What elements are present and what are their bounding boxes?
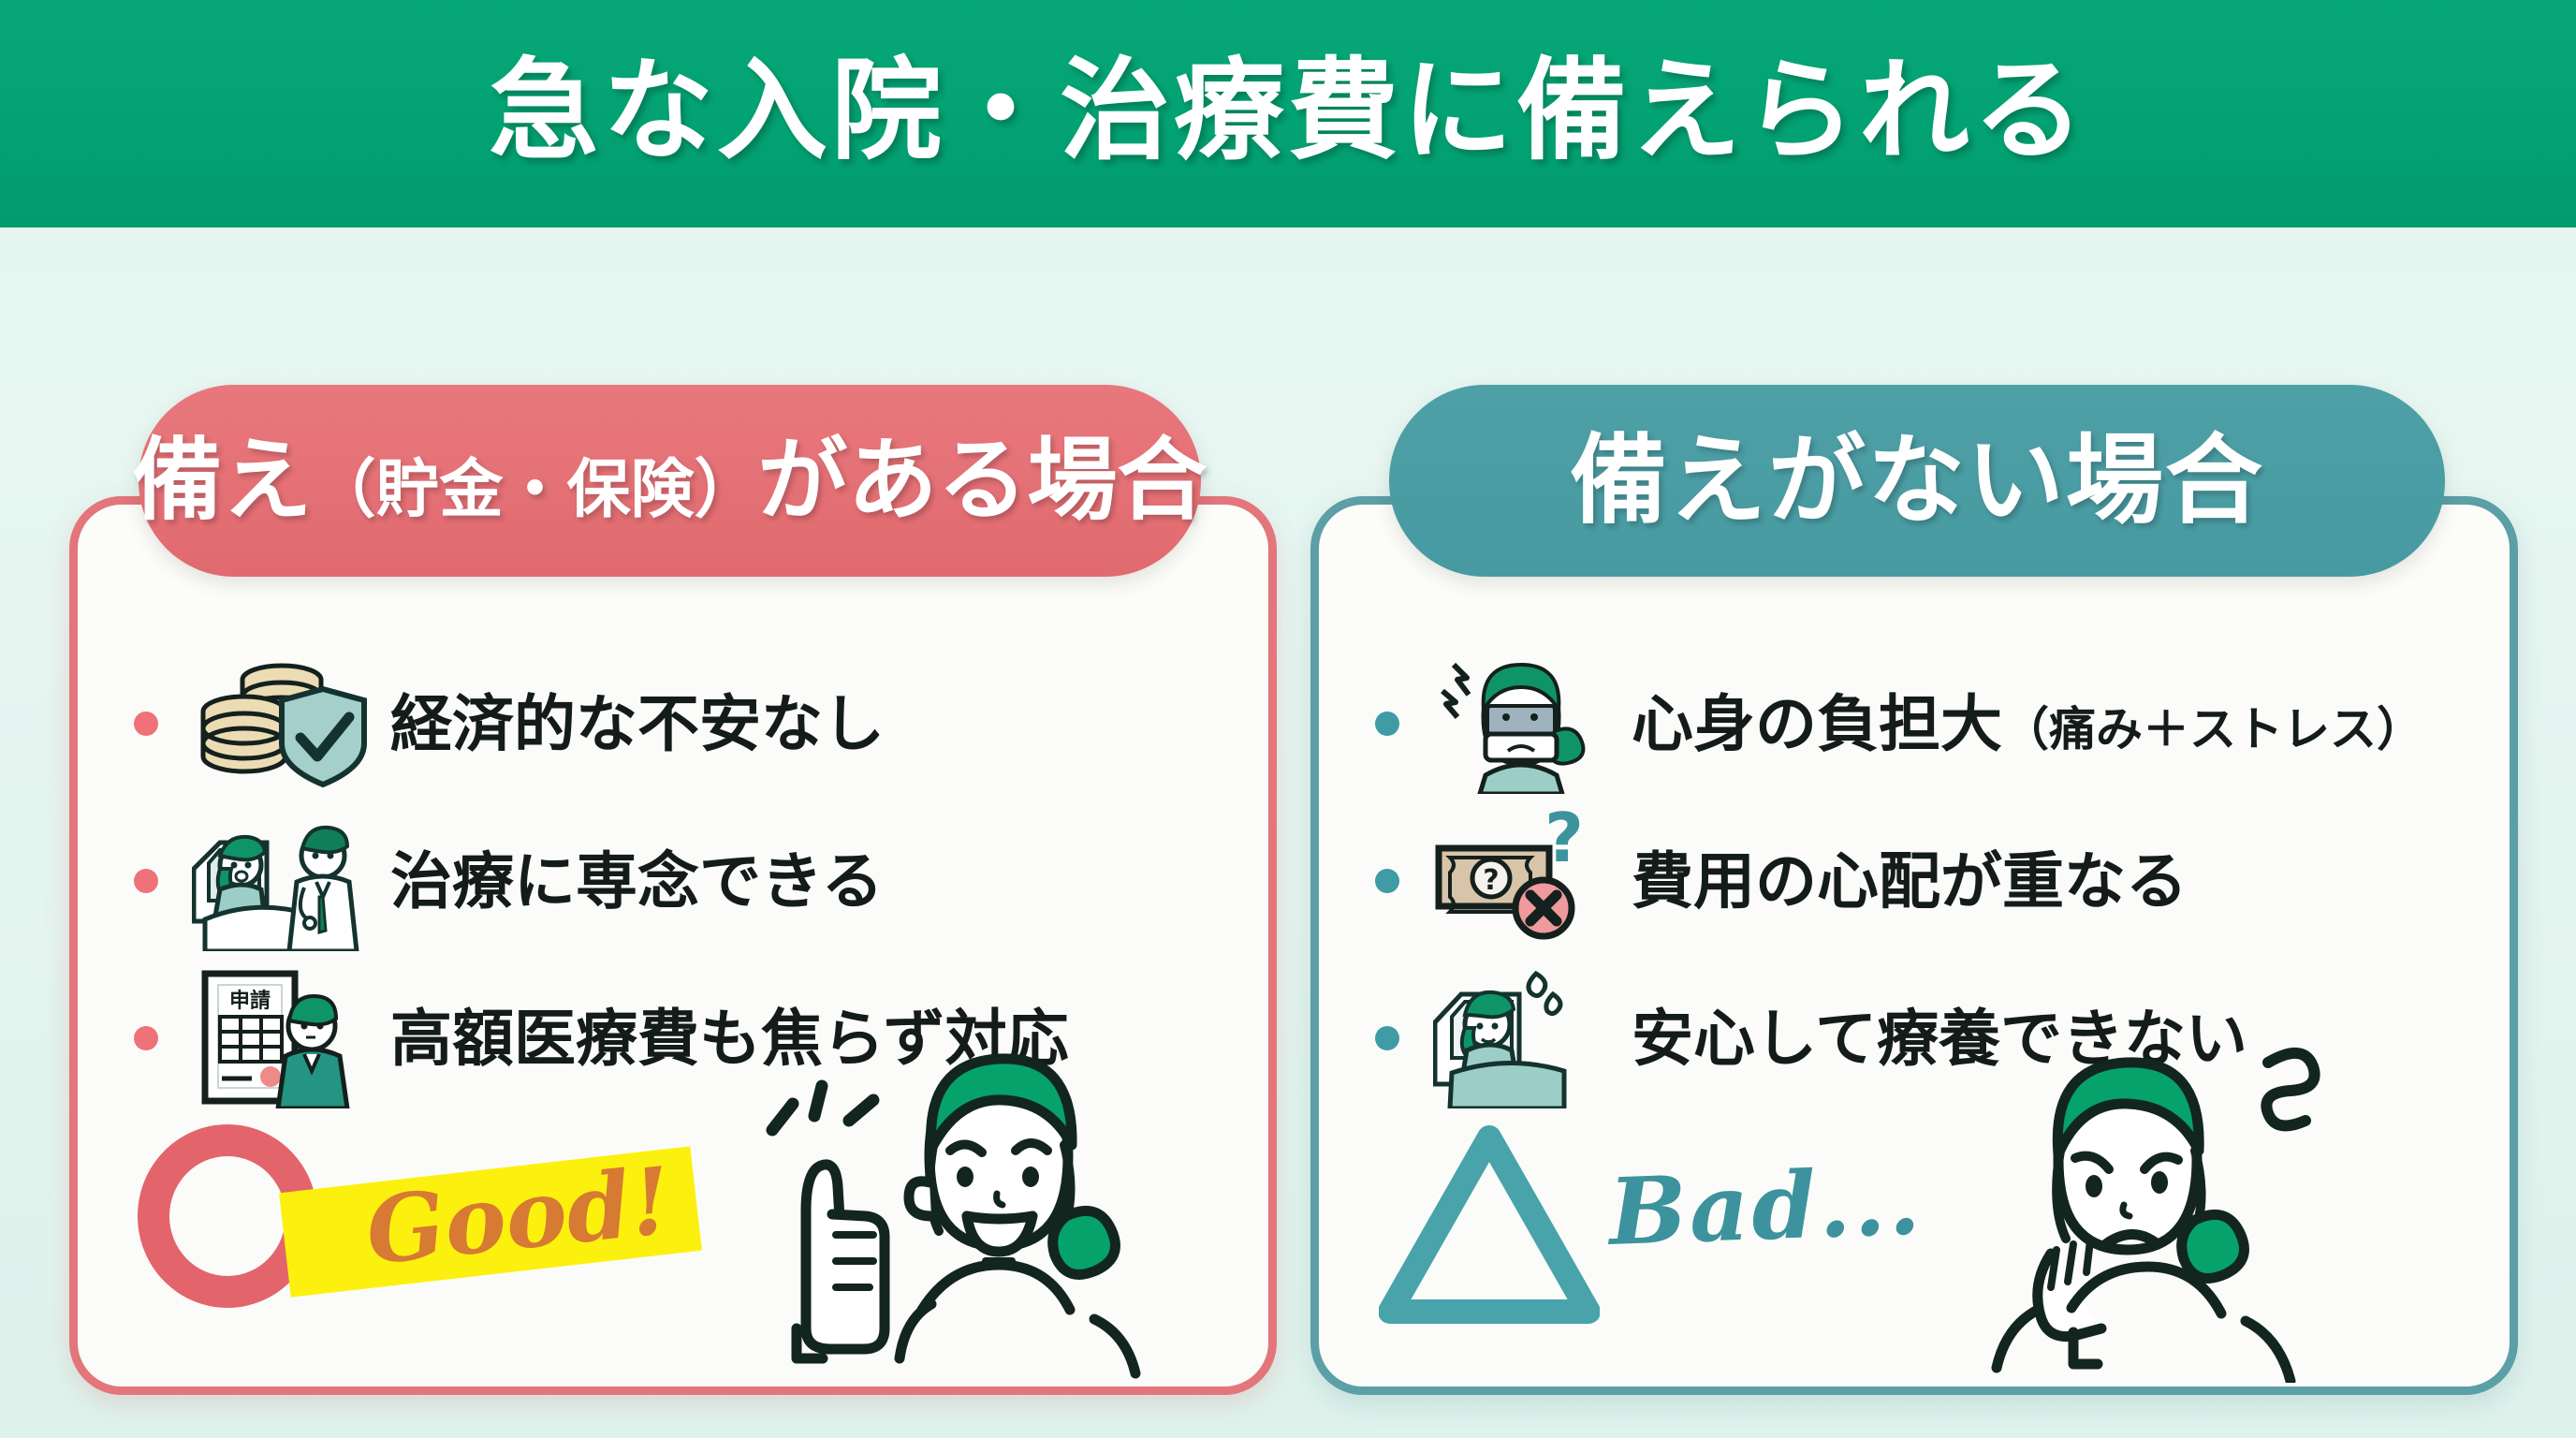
list-item-text: 治療に専念できる [390,850,884,912]
slide-header-band: 急な入院・治療費に備えられる [0,0,2576,227]
patient-with-doctor-icon [192,811,370,951]
bullet-dot [134,869,158,893]
panel-title-tail: がある場合 [758,436,1207,526]
page-title: 急な入院・治療費に備えられる [489,56,2087,172]
list-item-label: 治療に専念できる [390,850,884,912]
list-item: 経済的な不安なし [78,645,1268,802]
banknote-question-cross-icon: ? ? [1433,811,1611,951]
worried-woman-illustration [1957,990,2481,1383]
person-in-bed-sweating-icon [1433,968,1611,1108]
list-item-label: 費用の心配が重なる [1632,850,2188,912]
svg-text:申請: 申請 [229,989,271,1013]
coins-shield-check-icon [192,653,370,794]
svg-text:?: ? [1483,864,1499,897]
panel-header-with-preparation: 備え（貯金・保険）がある場合 [139,385,1201,577]
panel-header-without-preparation: 備えがない場合 [1389,385,2445,577]
medical-claim-form-icon: 申請 [192,968,370,1108]
list-item-label: 経済的な不安なし [390,693,885,755]
panel-title-main: 備えがない場合 [1570,433,2264,530]
list-item: 心身の負担大（痛み＋ストレス） [1319,645,2510,802]
sick-person-mask-icon [1433,653,1611,794]
bullet-dot [134,1026,158,1050]
list-item: 治療に専念できる [78,802,1268,960]
list-item-text: 心身の負担大 [1632,693,2002,755]
panel-header-text-left: 備え（貯金・保険）がある場合 [133,436,1207,526]
smiling-woman-thumbs-up-illustration [716,990,1240,1383]
triangle-sankaku-mark [1379,1124,1600,1331]
verdict-good: Good! [126,1100,725,1362]
verdict-word-bad: Bad... [1607,1156,1924,1259]
panel-with-preparation: 経済的な不安なし [69,496,1277,1395]
panel-title-paren: （貯金・保険） [313,458,758,521]
bullet-dot [1375,712,1399,736]
bullet-dot [134,712,158,736]
panel-title-main: 備え [133,436,313,526]
list-item: ? ? 費用の心配が重なる [1319,802,2510,960]
panel-header-text-right: 備えがない場合 [1570,433,2264,530]
bullet-dot [1375,869,1399,893]
verdict-word-good: Good! [362,1155,675,1279]
verdict-bad: Bad... [1368,1100,1967,1362]
list-item-subtext: （痛み＋ストレス） [2002,706,2423,753]
panel-without-preparation: 心身の負担大（痛み＋ストレス） ? ? [1310,496,2518,1395]
list-item-text: 経済的な不安なし [390,693,885,755]
slide-root: 急な入院・治療費に備えられる [0,0,2576,1438]
bullet-dot [1375,1026,1399,1050]
list-item-text: 費用の心配が重なる [1632,850,2188,912]
list-item-label: 心身の負担大（痛み＋ストレス） [1632,693,2423,755]
